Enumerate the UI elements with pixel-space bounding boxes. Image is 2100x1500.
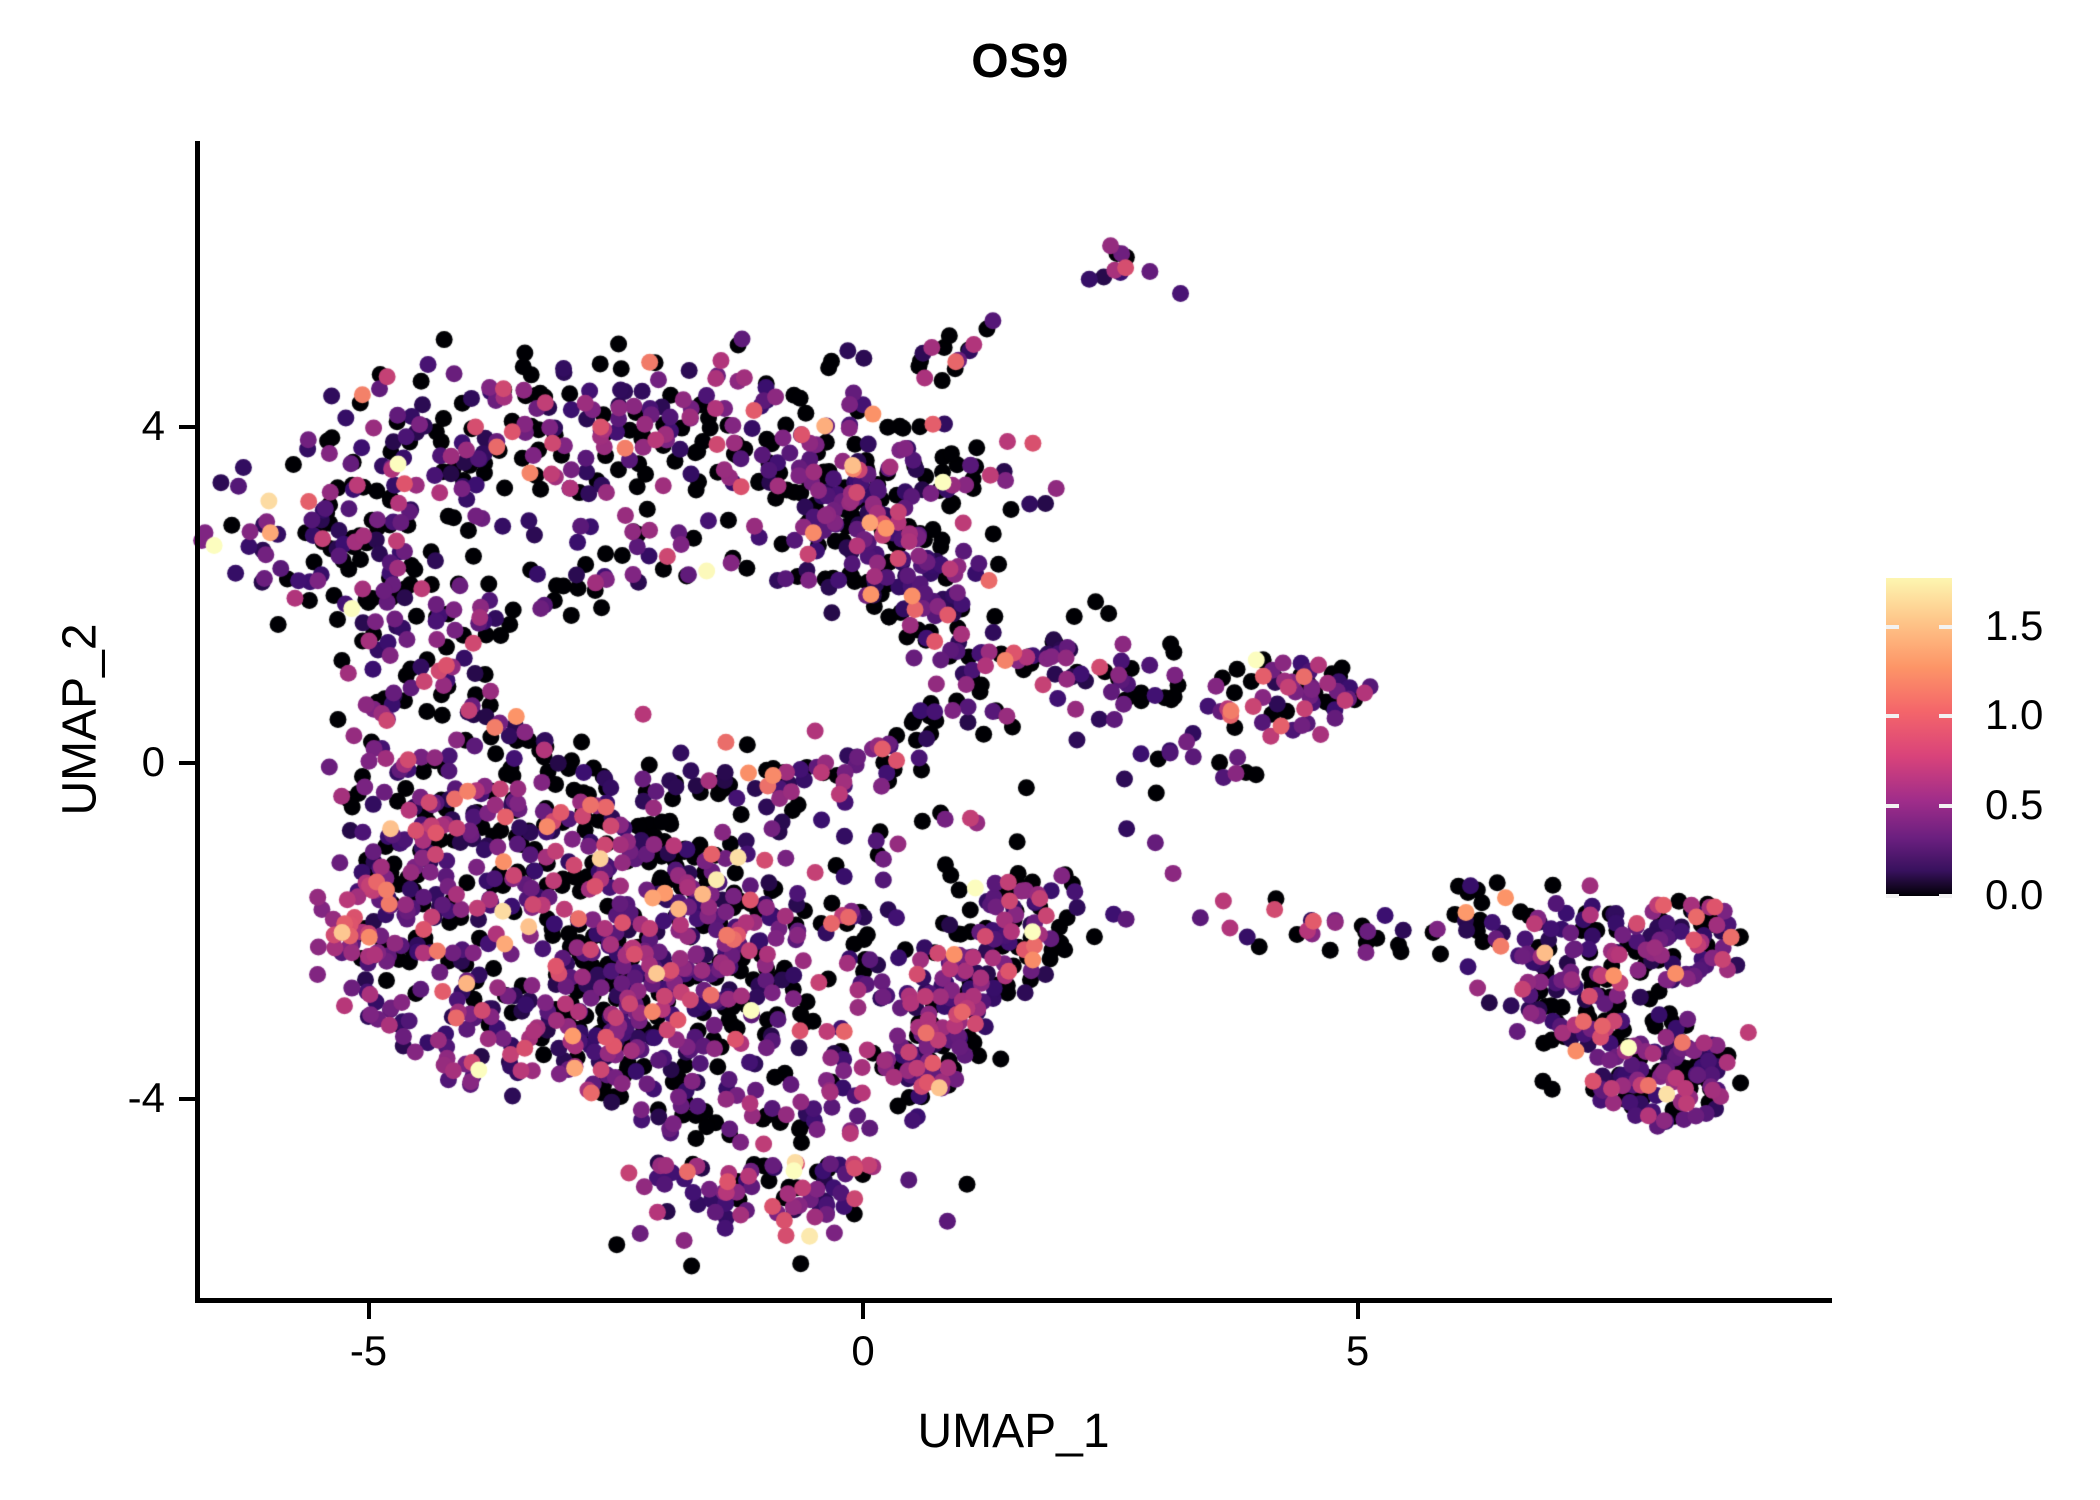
colorbar-tick-mark	[1886, 625, 1899, 629]
y-tick-mark	[179, 425, 195, 429]
colorbar-tick-mark	[1939, 625, 1952, 629]
colorbar-tick-mark	[1886, 714, 1899, 718]
x-tick-mark	[861, 1303, 865, 1319]
colorbar-tick-mark	[1939, 804, 1952, 808]
colorbar-tick-mark	[1886, 894, 1899, 898]
y-tick-mark	[179, 761, 195, 765]
colorbar-tick-mark	[1886, 804, 1899, 808]
y-axis-line	[195, 141, 200, 1302]
x-tick-label: -5	[289, 1330, 449, 1372]
umap-feature-plot: OS9 40-4 -505 UMAP_1 UMAP_2 1.51.00.50.0	[0, 0, 2100, 1500]
colorbar-tick-label: 0.5	[1985, 784, 2100, 826]
plot-panel	[195, 141, 1830, 1300]
colorbar-tick-mark	[1939, 714, 1952, 718]
x-tick-label: 5	[1278, 1330, 1438, 1372]
colorbar-tick-label: 1.5	[1985, 605, 2100, 647]
colorbar-tick-label: 0.0	[1985, 874, 2100, 916]
page-title: OS9	[0, 34, 2040, 89]
x-axis-line	[195, 1298, 1832, 1303]
colorbar-tick-label: 1.0	[1985, 694, 2100, 736]
x-tick-mark	[367, 1303, 371, 1319]
x-tick-label: 0	[783, 1330, 943, 1372]
x-axis-label: UMAP_1	[195, 1404, 1832, 1459]
y-tick-mark	[179, 1097, 195, 1101]
y-axis-label: UMAP_2	[53, 340, 108, 1100]
colorbar-tick-mark	[1939, 894, 1952, 898]
x-tick-mark	[1356, 1303, 1360, 1319]
